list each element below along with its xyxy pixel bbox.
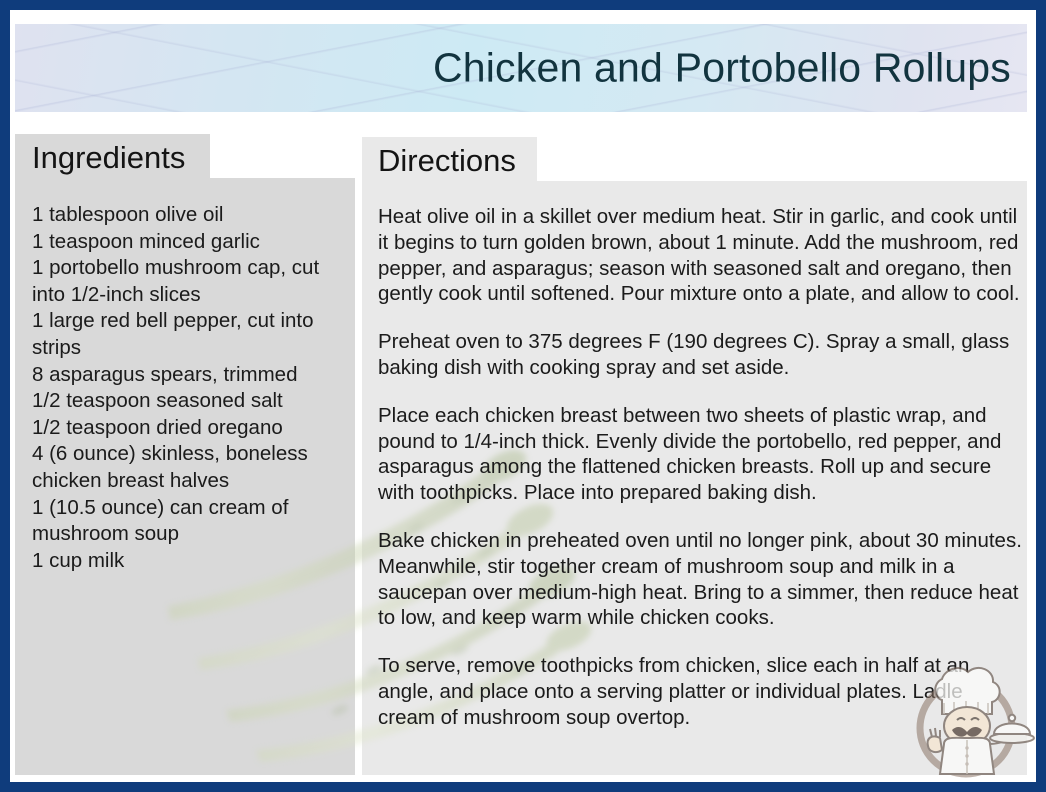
- directions-steps: Heat olive oil in a skillet over medium …: [378, 204, 1022, 731]
- direction-step: Place each chicken breast between two sh…: [378, 403, 1022, 506]
- ingredients-list: 1 tablespoon olive oil1 teaspoon minced …: [32, 202, 350, 574]
- ingredient-item: 1 large red bell pepper, cut into strips: [32, 308, 350, 361]
- ingredient-item: 8 asparagus spears, trimmed: [32, 362, 350, 389]
- ingredient-item: 1 teaspoon minced garlic: [32, 229, 350, 256]
- direction-step: Bake chicken in preheated oven until no …: [378, 528, 1022, 631]
- recipe-page: Chicken and Portobello Rollups: [10, 10, 1036, 782]
- page-title: Chicken and Portobello Rollups: [433, 45, 1011, 92]
- ingredient-item: 1 cup milk: [32, 548, 350, 575]
- direction-step: Preheat oven to 375 degrees F (190 degre…: [378, 329, 1022, 381]
- directions-tab-notch: [537, 130, 1029, 181]
- ingredient-item: 1/2 teaspoon seasoned salt: [32, 388, 350, 415]
- recipe-card: Chicken and Portobello Rollups: [0, 0, 1046, 792]
- ingredient-item: 1 (10.5 ounce) can cream of mushroom sou…: [32, 495, 350, 548]
- ingredients-heading: Ingredients: [15, 134, 210, 178]
- direction-step: Heat olive oil in a skillet over medium …: [378, 204, 1022, 307]
- ingredient-item: 1 portobello mushroom cap, cut into 1/2-…: [32, 255, 350, 308]
- title-banner: Chicken and Portobello Rollups: [15, 24, 1027, 112]
- ingredient-item: 1 tablespoon olive oil: [32, 202, 350, 229]
- ingredients-tab-notch: [210, 130, 356, 178]
- ingredient-item: 1/2 teaspoon dried oregano: [32, 415, 350, 442]
- ingredient-item: 4 (6 ounce) skinless, boneless chicken b…: [32, 441, 350, 494]
- directions-heading: Directions: [362, 137, 537, 181]
- direction-step: To serve, remove toothpicks from chicken…: [378, 653, 1022, 730]
